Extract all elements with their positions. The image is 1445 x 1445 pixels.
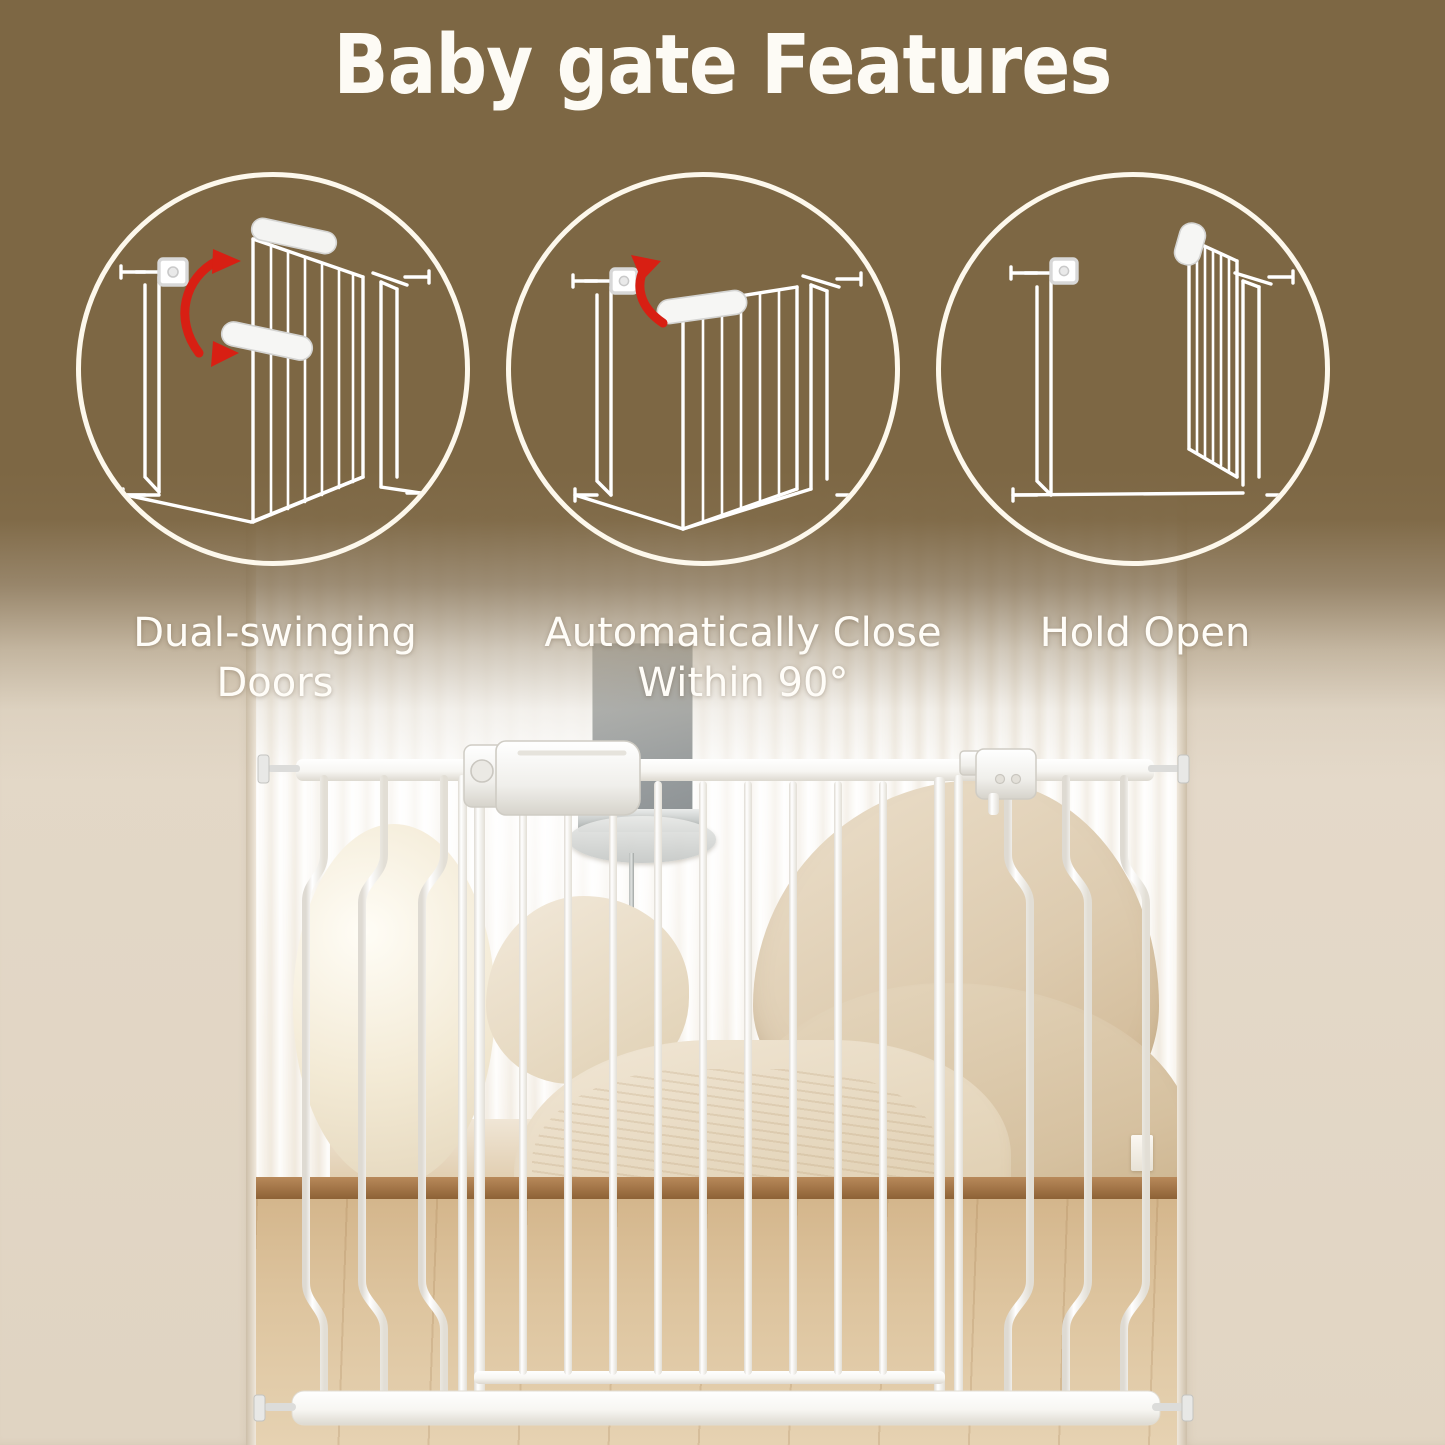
gate-door <box>474 777 945 1395</box>
double-headed-curved-arrow <box>184 249 241 367</box>
feature-illustration-dual-swing <box>81 177 465 561</box>
feature-circle-hold-open <box>936 172 1330 566</box>
baby-gate-dual-swing-illustration <box>81 177 470 566</box>
gate-handle-top <box>250 216 339 255</box>
door-bars <box>519 781 887 1375</box>
feature-circle-automatically-close <box>506 172 900 566</box>
feature-label-line2: Within 90° <box>478 658 1008 708</box>
pressure-mount-bolt-top-left <box>258 755 300 783</box>
gate-hinge-block <box>960 749 1036 815</box>
gate-latch-handle <box>464 741 640 815</box>
gate-illustration <box>248 735 1198 1441</box>
feature-label-line2: Doors <box>40 658 510 708</box>
feature-illustration-auto-close <box>511 177 895 561</box>
right-extension-panel <box>1008 779 1146 1393</box>
latch-pivot <box>471 760 493 782</box>
feature-label-line1: Automatically Close <box>478 608 1008 658</box>
pressure-mounted-baby-gate <box>248 735 1198 1441</box>
gate-handle-bar <box>656 289 748 325</box>
right-panel-frame <box>954 775 963 1397</box>
baby-gate-auto-close-illustration <box>511 177 900 566</box>
feature-label-hold-open: Hold Open <box>930 608 1360 658</box>
page-title: Baby gate Features <box>87 18 1359 113</box>
gate-bottom-rail <box>292 1391 1160 1425</box>
feature-label-line1: Hold Open <box>930 608 1360 658</box>
door-bottom-rail <box>474 1371 945 1384</box>
baby-gate-hold-open-illustration <box>941 177 1330 566</box>
door-frame-right <box>934 777 945 1395</box>
feature-label-automatically-close: Automatically Close Within 90° <box>478 608 1008 709</box>
feature-circle-dual-swinging-doors <box>76 172 470 566</box>
gate-handle-mid <box>220 320 315 363</box>
gate-handle-bar <box>1172 220 1209 268</box>
left-panel-frame <box>458 775 467 1397</box>
infographic-canvas: Baby gate Features <box>0 0 1445 1445</box>
door-frame-left <box>474 777 485 1395</box>
left-extension-panel <box>306 779 444 1393</box>
feature-label-dual-swinging-doors: Dual-swinging Doors <box>40 608 510 709</box>
pressure-mount-bolt-top-right <box>1148 755 1189 783</box>
pressure-mount-bolt-bottom-left <box>254 1395 296 1421</box>
feature-label-line1: Dual-swinging <box>40 608 510 658</box>
feature-illustration-hold-open <box>941 177 1325 561</box>
